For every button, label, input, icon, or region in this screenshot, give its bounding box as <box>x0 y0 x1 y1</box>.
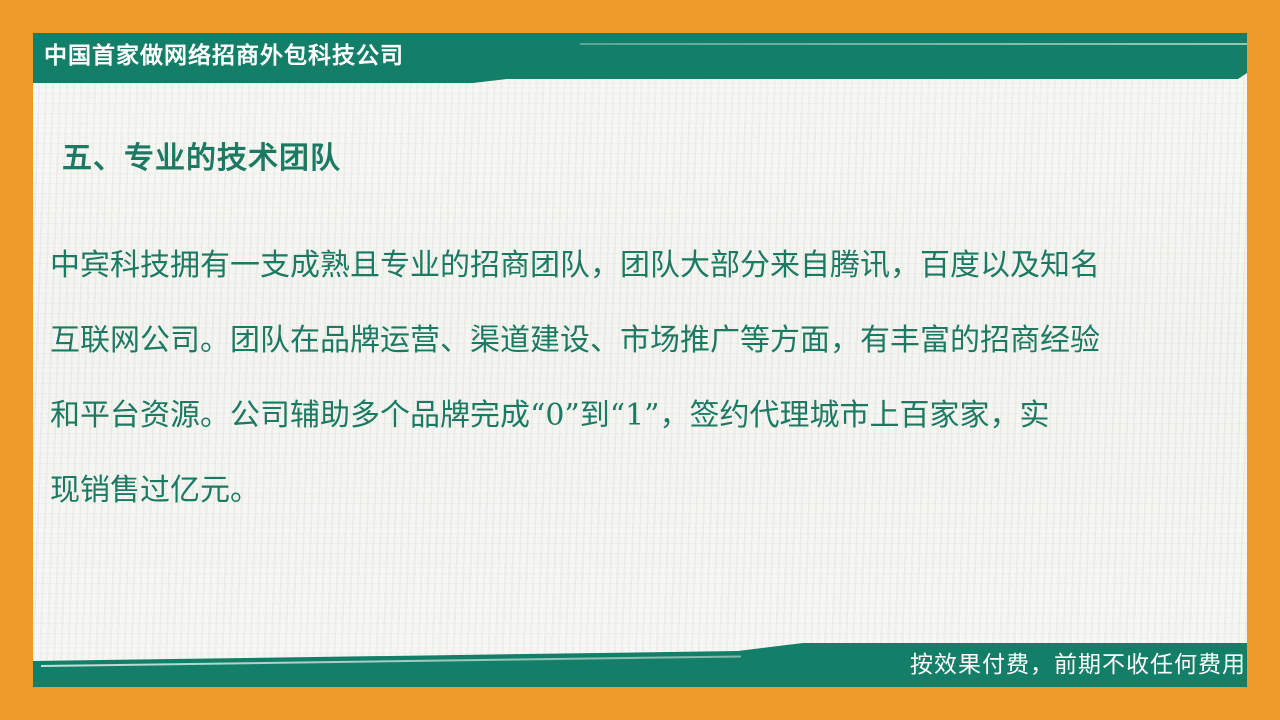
footer-tagline: 按效果付费，前期不收任何费用 <box>910 643 1246 687</box>
header-title: 中国首家做网络招商外包科技公司 <box>44 33 404 79</box>
section-heading: 五、专业的技术团队 <box>62 133 341 177</box>
body-line: 中宾科技拥有一支成熟且专业的招商团队，团队大部分来自腾讯，百度以及知名 <box>50 228 1190 303</box>
header-divider-line <box>580 43 1247 45</box>
slide: 中国首家做网络招商外包科技公司 五、专业的技术团队 中宾科技拥有一支成熟且专业的… <box>0 0 1280 720</box>
body-paragraph: 中宾科技拥有一支成熟且专业的招商团队，团队大部分来自腾讯，百度以及知名 互联网公… <box>50 228 1190 528</box>
body-line: 互联网公司。团队在品牌运营、渠道建设、市场推广等方面，有丰富的招商经验 <box>50 303 1190 378</box>
body-line: 现销售过亿元。 <box>50 453 1190 528</box>
body-line: 和平台资源。公司辅助多个品牌完成“0”到“1”，签约代理城市上百家家，实 <box>50 378 1190 453</box>
